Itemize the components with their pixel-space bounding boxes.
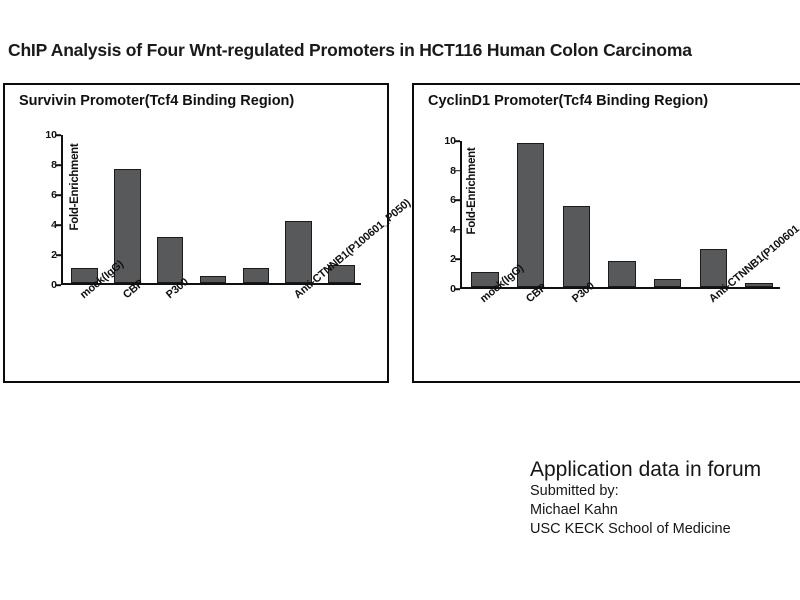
bar-series-cyclind1 bbox=[462, 141, 780, 287]
y-tick-mark bbox=[56, 194, 61, 196]
caption-block: Application data in forum Submitted by: … bbox=[530, 458, 800, 540]
bar bbox=[563, 206, 590, 287]
figure-title: ChIP Analysis of Four Wnt-regulated Prom… bbox=[8, 40, 798, 61]
caption-affiliation: USC KECK School of Medicine bbox=[530, 520, 800, 539]
plot-area-survivin: Fold-Enrichment 0246810 mock(IgG)CBPP300… bbox=[61, 135, 361, 285]
y-tick-mark bbox=[455, 140, 460, 142]
chart-panel-survivin: Survivin Promoter(Tcf4 Binding Region) F… bbox=[3, 83, 389, 383]
bar bbox=[608, 261, 635, 287]
bar bbox=[157, 237, 184, 283]
y-tick-mark bbox=[56, 254, 61, 256]
y-tick-mark bbox=[455, 170, 460, 172]
y-tick-mark bbox=[455, 199, 460, 201]
y-tick-mark bbox=[56, 164, 61, 166]
caption-author: Michael Kahn bbox=[530, 501, 800, 520]
caption-submitted-by-label: Submitted by: bbox=[530, 482, 800, 501]
bar bbox=[200, 276, 227, 283]
bar bbox=[654, 279, 681, 287]
bar-series-survivin bbox=[63, 135, 361, 283]
caption-heading: Application data in forum bbox=[530, 458, 800, 482]
bar bbox=[285, 221, 312, 283]
plot-area-cyclind1: Fold-Enrichment 0246810 mock(IgG)CBPP300… bbox=[460, 141, 780, 289]
y-tick-mark bbox=[56, 134, 61, 136]
chart-title-cyclind1: CyclinD1 Promoter(Tcf4 Binding Region) bbox=[414, 93, 800, 109]
chart-title-survivin: Survivin Promoter(Tcf4 Binding Region) bbox=[5, 93, 387, 109]
y-tick-mark bbox=[455, 229, 460, 231]
y-tick-mark bbox=[455, 288, 460, 290]
y-tick-mark bbox=[56, 224, 61, 226]
figure-page: ChIP Analysis of Four Wnt-regulated Prom… bbox=[0, 0, 800, 600]
chart-panel-cyclind1: CyclinD1 Promoter(Tcf4 Binding Region) F… bbox=[412, 83, 800, 383]
y-tick-mark bbox=[56, 284, 61, 286]
bar bbox=[243, 268, 270, 283]
y-tick-mark bbox=[455, 259, 460, 261]
bar bbox=[745, 283, 772, 287]
